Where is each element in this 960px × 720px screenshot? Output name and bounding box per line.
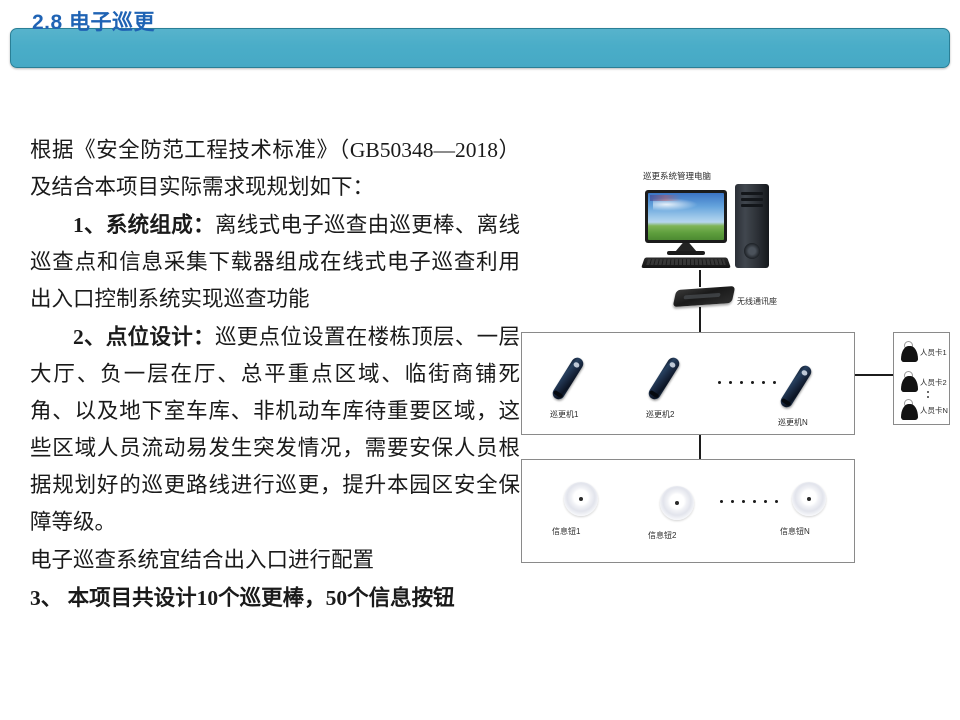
content-text-column: 根据《安全防范工程技术标准》（GB50348—2018）及结合本项目实际需求现规… xyxy=(30,132,520,618)
ellipsis-dots xyxy=(718,381,776,384)
connector-dock-to-wands xyxy=(699,307,701,332)
wireless-dock-icon xyxy=(673,286,736,307)
patrol-system-diagram: 巡更系统管理电脑 无线通讯座 巡更机1 巡更机2 巡更机N 信息钮1 信息钮2 xyxy=(515,170,955,590)
patrol-wand-icon xyxy=(646,355,681,401)
patrol-wand-panel: 巡更机1 巡更机2 巡更机N xyxy=(521,332,855,435)
patrol-wand-2-label: 巡更机2 xyxy=(646,409,674,420)
pc-tower-icon xyxy=(735,184,769,268)
connector-pc-to-dock xyxy=(699,270,701,287)
note-text: 电子巡查系统宜结合出入口进行配置 xyxy=(30,548,374,572)
info-button-icon xyxy=(660,486,694,520)
management-computer-label: 巡更系统管理电脑 xyxy=(643,170,711,182)
ellipsis-dots-vertical xyxy=(927,391,929,401)
personnel-card-panel: 人员卡1 人员卡2 人员卡N xyxy=(893,332,950,425)
item-2-lead: 2、点位设计： xyxy=(73,325,215,349)
info-button-panel: 信息钮1 信息钮2 信息钮N xyxy=(521,459,855,563)
personnel-card-2-label: 人员卡2 xyxy=(920,377,947,388)
intro-paragraph: 根据《安全防范工程技术标准》（GB50348—2018）及结合本项目实际需求现规… xyxy=(30,132,520,206)
note-paragraph: 电子巡查系统宜结合出入口进行配置 xyxy=(30,542,520,579)
intro-text: 根据《安全防范工程技术标准》（GB50348—2018）及结合本项目实际需求现规… xyxy=(30,138,520,199)
key-fob-icon xyxy=(901,341,918,362)
monitor-screen xyxy=(648,193,724,240)
key-fob-icon xyxy=(901,399,918,420)
item-3-text: 3、 本项目共设计10个巡更棒，50个信息按钮 xyxy=(30,586,455,610)
ellipsis-dots xyxy=(720,500,778,503)
connector-wands-to-cards xyxy=(855,374,893,376)
connector-wands-to-buttons xyxy=(699,435,701,459)
item-2-body: 巡更点位设置在楼栋顶层、一层大厅、负一层在厅、总平重点区域、临街商铺死角、以及地… xyxy=(30,325,520,534)
patrol-wand-1-label: 巡更机1 xyxy=(550,409,578,420)
personnel-card-n-label: 人员卡N xyxy=(920,405,948,416)
personnel-card-1-label: 人员卡1 xyxy=(920,347,947,358)
keyboard-icon xyxy=(641,257,731,267)
info-button-1-label: 信息钮1 xyxy=(552,526,580,537)
item-1-paragraph: 1、系统组成：离线式电子巡查由巡更棒、离线巡查点和信息采集下载器组成在线式电子巡… xyxy=(30,207,520,318)
info-button-n-label: 信息钮N xyxy=(780,526,810,537)
item-3-paragraph: 3、 本项目共设计10个巡更棒，50个信息按钮 xyxy=(30,580,520,617)
fob-body xyxy=(901,376,918,392)
item-1-lead: 1、系统组成： xyxy=(73,213,215,237)
patrol-wand-n-label: 巡更机N xyxy=(778,417,808,428)
info-button-icon xyxy=(792,482,826,516)
page-title: 2.8 电子巡更 xyxy=(32,6,155,36)
item-2-paragraph: 2、点位设计：巡更点位设置在楼栋顶层、一层大厅、负一层在厅、总平重点区域、临街商… xyxy=(30,319,520,541)
patrol-wand-icon xyxy=(778,363,813,409)
info-button-icon xyxy=(564,482,598,516)
wireless-dock-label: 无线通讯座 xyxy=(737,296,777,307)
key-fob-icon xyxy=(901,371,918,392)
info-button-2-label: 信息钮2 xyxy=(648,530,676,541)
fob-body xyxy=(901,404,918,420)
patrol-wand-icon xyxy=(550,355,585,401)
monitor-icon xyxy=(645,190,727,243)
fob-body xyxy=(901,346,918,362)
monitor-base xyxy=(667,251,705,255)
